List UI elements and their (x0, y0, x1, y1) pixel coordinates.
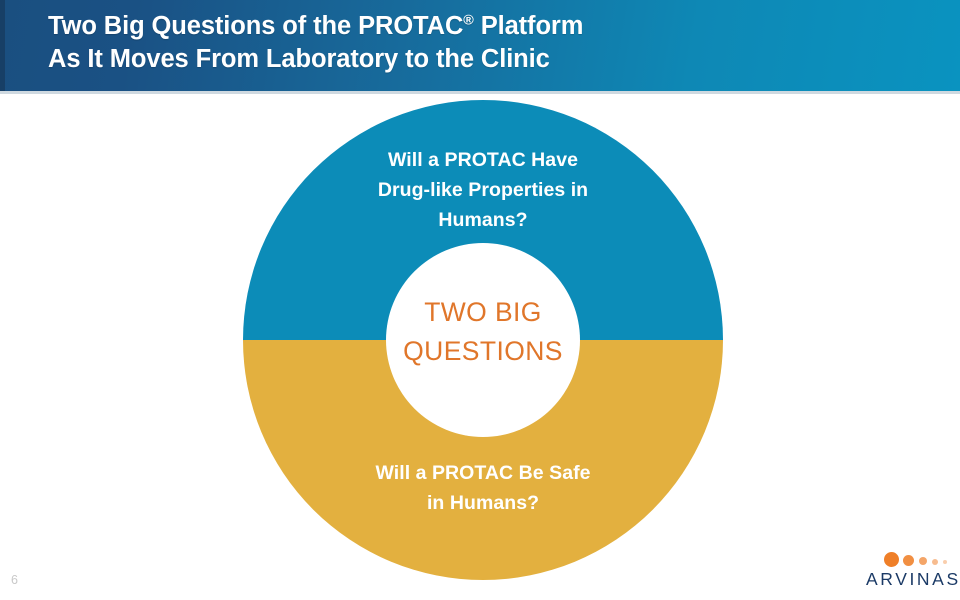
page-title-line-1-prefix: Two Big Questions of the PROTAC (48, 12, 463, 40)
donut-bottom-label-line-2: in Humans? (298, 488, 668, 518)
donut-top-label-line-2: Drug-like Properties in (313, 175, 653, 205)
logo-dot-2 (903, 555, 914, 566)
logo-dot-1 (884, 552, 899, 567)
header-left-accent-bar (0, 0, 5, 91)
donut-diagram: Will a PROTAC Have Drug-like Properties … (243, 100, 723, 580)
donut-center-label-line-1: TWO BIG (386, 293, 580, 332)
page-title-line-1: Two Big Questions of the PROTAC® Platfor… (48, 10, 908, 43)
page-title: Two Big Questions of the PROTAC® Platfor… (48, 10, 908, 76)
slide-canvas: Two Big Questions of the PROTAC® Platfor… (0, 0, 960, 600)
logo-wordmark: ARVINAS (866, 569, 958, 589)
donut-center-label-line-2: QUESTIONS (386, 332, 580, 371)
logo-dot-4 (932, 559, 938, 565)
page-number: 6 (11, 573, 18, 587)
donut-bottom-label-line-1: Will a PROTAC Be Safe (298, 458, 668, 488)
logo-dot-5 (943, 560, 947, 564)
donut-segment-bottom-label: Will a PROTAC Be Safe in Humans? (298, 458, 668, 518)
donut-center-label: TWO BIG QUESTIONS (386, 293, 580, 371)
header-bottom-divider (0, 91, 960, 94)
page-title-line-1-suffix: Platform (474, 12, 584, 40)
page-title-line-2: As It Moves From Laboratory to the Clini… (48, 43, 908, 76)
logo-dot-3 (919, 557, 927, 565)
header-banner: Two Big Questions of the PROTAC® Platfor… (0, 0, 960, 91)
donut-top-label-line-3: Humans? (313, 205, 653, 235)
donut-segment-top-label: Will a PROTAC Have Drug-like Properties … (313, 145, 653, 235)
arvinas-logo: ARVINAS (866, 550, 958, 592)
donut-top-label-line-1: Will a PROTAC Have (313, 145, 653, 175)
registered-trademark-icon: ® (463, 13, 473, 29)
logo-dots-icon (884, 552, 958, 570)
